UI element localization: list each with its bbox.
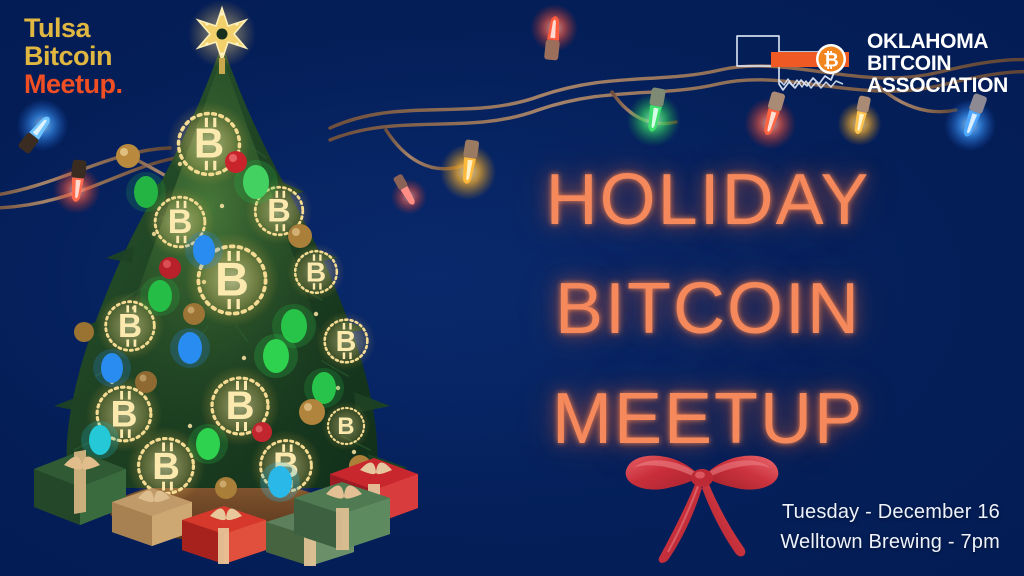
brand-line-bitcoin: Bitcoin bbox=[24, 42, 123, 70]
logo-line-oklahoma: OKLAHOMA bbox=[867, 31, 1008, 53]
tulsa-bitcoin-meetup-brand: Tulsa Bitcoin Meetup. bbox=[24, 14, 123, 98]
event-date: Tuesday - December 16 bbox=[780, 498, 1000, 528]
headline-line-meetup: MEETUP bbox=[498, 365, 918, 474]
brand-line-tulsa: Tulsa bbox=[24, 14, 123, 42]
svg-text:B: B bbox=[226, 384, 255, 428]
svg-text:B: B bbox=[337, 413, 354, 440]
poster-canvas: B B B bbox=[0, 0, 1024, 576]
svg-text:B: B bbox=[118, 308, 142, 345]
event-venue: Welltown Brewing - 7pm bbox=[780, 528, 1000, 558]
headline-line-bitcoin: BITCOIN bbox=[498, 255, 918, 364]
svg-text:B: B bbox=[336, 326, 357, 358]
oklahoma-bitcoin-association-logo: ₿ OKLAHOMA BITCOIN ASSOCIATION bbox=[731, 22, 1008, 106]
oklahoma-bitcoin-association-wordmark: OKLAHOMA BITCOIN ASSOCIATION bbox=[867, 31, 1008, 96]
svg-text:B: B bbox=[152, 445, 180, 488]
brand-line-meetup: Meetup. bbox=[24, 70, 123, 98]
svg-text:B: B bbox=[215, 253, 249, 306]
logo-line-association: ASSOCIATION bbox=[867, 75, 1008, 97]
logo-line-bitcoin: BITCOIN bbox=[867, 53, 1008, 75]
svg-text:B: B bbox=[168, 203, 193, 241]
bitcoin-symbol-icon: ₿ bbox=[823, 51, 838, 72]
headline-line-holiday: HOLIDAY bbox=[498, 146, 918, 255]
star-topper-icon bbox=[188, 0, 256, 74]
event-details: Tuesday - December 16 Welltown Brewing -… bbox=[780, 498, 1000, 557]
svg-text:B: B bbox=[194, 120, 224, 167]
svg-text:B: B bbox=[306, 257, 326, 288]
oklahoma-state-mark: ₿ bbox=[731, 22, 855, 106]
event-headline: HOLIDAY BITCOIN MEETUP bbox=[498, 146, 918, 474]
